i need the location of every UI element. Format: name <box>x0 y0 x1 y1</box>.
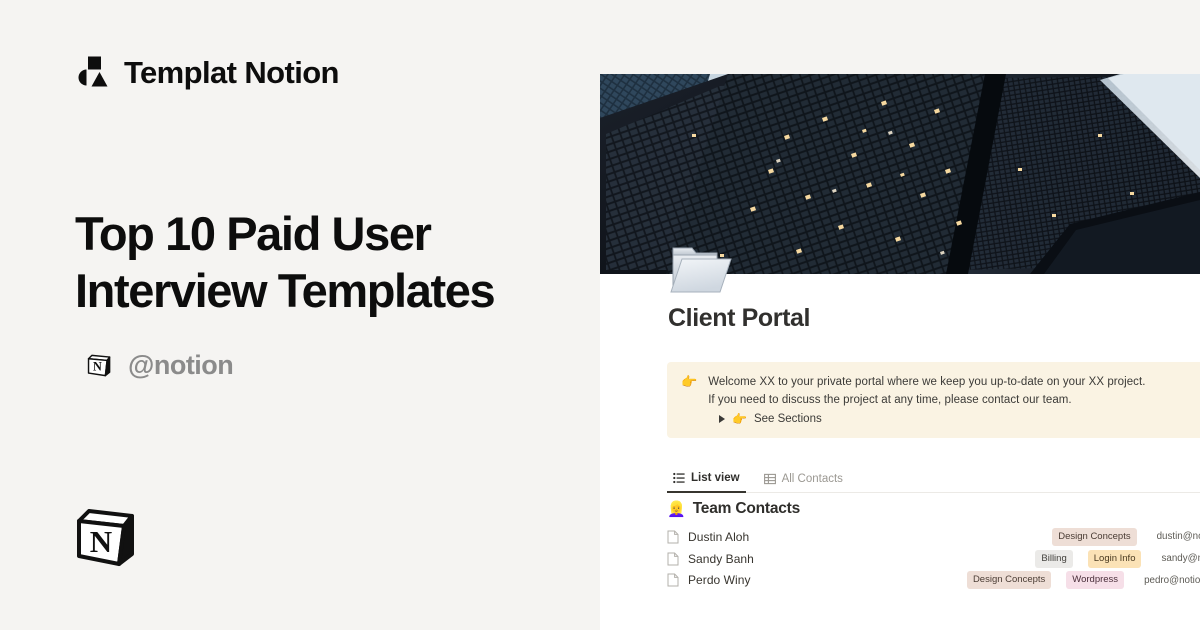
status-badge: Wordpress <box>1066 571 1124 589</box>
section-heading: 👱‍♀️ Team Contacts <box>667 500 800 518</box>
callout-block: 👉 Welcome XX to your private portal wher… <box>667 362 1200 438</box>
notion-page-title: Client Portal <box>668 306 810 331</box>
contact-name: Perdo Winy <box>688 573 751 587</box>
callout-line-1: Welcome XX to your private portal where … <box>708 374 1145 392</box>
contact-email: sandy@notion. <box>1161 553 1200 564</box>
status-badge: Billing <box>1035 550 1072 568</box>
shapes-logo-icon <box>75 56 108 89</box>
status-badge: Login Info <box>1088 550 1142 568</box>
notion-page-preview: Client Portal 👉 Welcome XX to your priva… <box>600 74 1200 630</box>
left-pane: Templat Notion Top 10 Paid User Intervie… <box>0 0 600 630</box>
preview-pane: Client Portal 👉 Welcome XX to your priva… <box>600 0 1200 630</box>
pointing-right-hand-icon: 👉 <box>681 374 697 390</box>
author-handle: @notion <box>128 352 233 379</box>
list-item[interactable]: Dustin Aloh Design Concepts dustin@notio… <box>667 526 1200 548</box>
author: N @notion <box>86 352 233 379</box>
brand: Templat Notion <box>75 56 339 89</box>
open-folder-icon <box>668 242 736 304</box>
tab-all-contacts[interactable]: All Contacts <box>758 471 849 492</box>
contacts-list: Dustin Aloh Design Concepts dustin@notio… <box>667 526 1200 591</box>
notion-cube-logo: N <box>74 506 138 570</box>
toggle-see-sections[interactable]: 👉 See Sections <box>719 413 1198 425</box>
status-badge: Design Concepts <box>967 571 1051 589</box>
contact-name: Sandy Banh <box>688 552 754 566</box>
social-card: Templat Notion Top 10 Paid User Intervie… <box>0 0 1200 630</box>
toggle-label: See Sections <box>754 413 822 425</box>
brand-title: Templat Notion <box>124 57 339 88</box>
contact-name: Dustin Aloh <box>688 530 749 544</box>
database-view-tabs: List view All Contacts <box>667 470 1200 493</box>
svg-text:N: N <box>90 524 112 559</box>
contact-email: dustin@notion.c <box>1157 531 1200 542</box>
page-file-icon <box>667 530 679 544</box>
list-item[interactable]: Perdo Winy Design Concepts Wordpress ped… <box>667 570 1200 592</box>
table-view-icon <box>764 473 776 485</box>
list-item[interactable]: Sandy Banh Billing Login Info sandy@noti… <box>667 548 1200 570</box>
chevron-right-icon[interactable] <box>719 415 725 423</box>
woman-icon: 👱‍♀️ <box>667 502 686 517</box>
section-title: Team Contacts <box>693 500 800 518</box>
status-badge: Design Concepts <box>1052 528 1136 546</box>
notion-cube-icon: N <box>86 352 113 379</box>
callout-line-2: If you need to discuss the project at an… <box>708 392 1145 410</box>
headline-line-1: Top 10 Paid User <box>75 205 575 262</box>
page-title: Top 10 Paid User Interview Templates <box>75 205 575 320</box>
page-file-icon <box>667 552 679 566</box>
contact-email: pedro@notion.com <box>1144 575 1200 586</box>
pointing-folder-icon: 👉 <box>732 413 747 425</box>
tab-list-view[interactable]: List view <box>667 470 746 493</box>
tab-list-view-label: List view <box>691 472 740 484</box>
page-file-icon <box>667 573 679 587</box>
list-view-icon <box>673 472 685 484</box>
headline-line-2: Interview Templates <box>75 262 575 319</box>
svg-text:N: N <box>93 360 102 374</box>
tab-all-contacts-label: All Contacts <box>782 473 843 485</box>
